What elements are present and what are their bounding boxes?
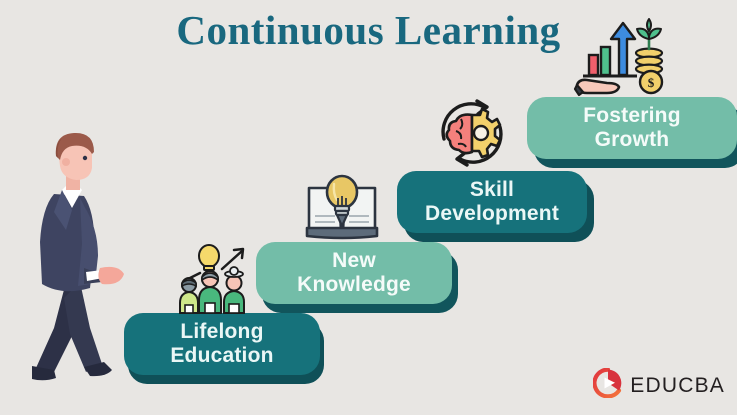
book-lightbulb-icon <box>303 168 383 245</box>
educba-logo-mark <box>593 368 623 403</box>
infographic-canvas: Continuous Learning <box>0 0 737 415</box>
step-1-label: Lifelong Education <box>170 320 273 369</box>
group-lightbulb-icon <box>176 243 256 320</box>
growth-chart-coins-icon: $ <box>573 17 669 104</box>
walking-businessman-illustration <box>14 132 132 387</box>
step-lifelong-education[interactable]: Lifelong Education <box>124 313 320 375</box>
brain-gear-icon <box>432 95 512 176</box>
step-3-label: Skill Development <box>425 178 559 227</box>
step-fostering-growth[interactable]: Fostering Growth <box>527 97 737 159</box>
educba-logo-text: EDUCBA <box>630 374 725 398</box>
step-2-label: New Knowledge <box>297 249 411 298</box>
step-skill-development[interactable]: Skill Development <box>397 171 587 233</box>
educba-logo[interactable]: EDUCBA <box>593 368 725 403</box>
step-4-label: Fostering Growth <box>583 104 680 153</box>
svg-text:$: $ <box>648 75 655 90</box>
step-new-knowledge[interactable]: New Knowledge <box>256 242 452 304</box>
